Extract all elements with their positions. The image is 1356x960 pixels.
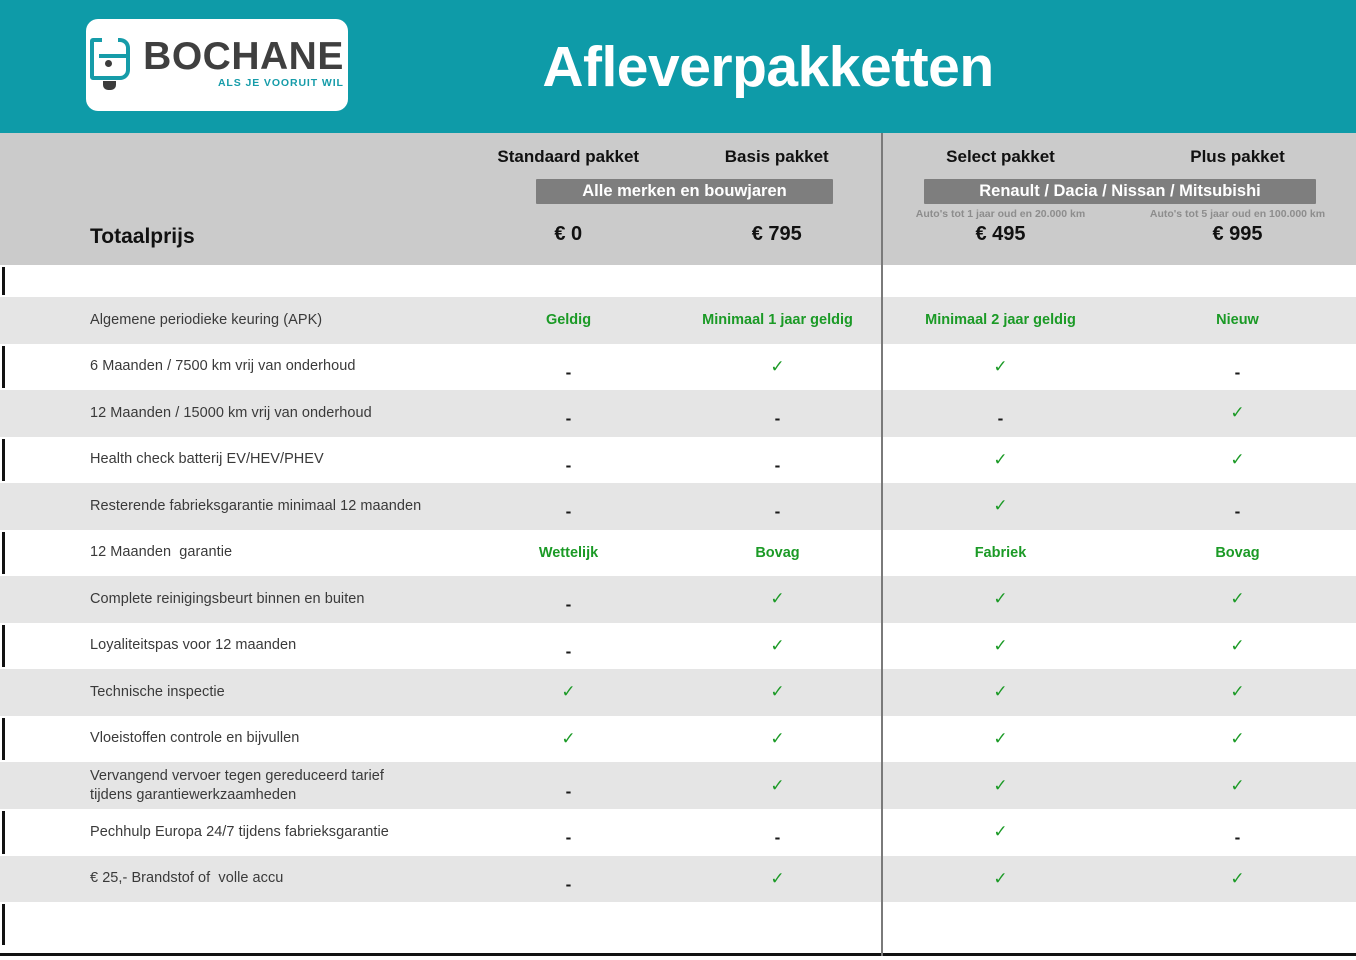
row-cells-left: -✓ <box>464 870 882 888</box>
row-cells-left: -- <box>464 497 882 515</box>
cell-basis: Bovag <box>673 544 882 562</box>
row-cells-left: ✓✓ <box>464 683 882 701</box>
cell-select: ✓ <box>882 730 1119 748</box>
row-feature-label: Vervangend vervoer tegen gereduceerd tar… <box>0 767 464 805</box>
cell-plus: ✓ <box>1119 870 1356 888</box>
afleverpakketten-page: BOCHANE ALS JE VOORUIT WIL Afleverpakket… <box>0 0 1356 960</box>
row-cells-right: FabriekBovag <box>882 544 1356 562</box>
group-badge-left: Alle merken en bouwjaren <box>536 179 833 204</box>
price-plus: € 995 <box>1119 223 1356 246</box>
row-feature-label: Complete reinigingsbeurt binnen en buite… <box>0 590 464 609</box>
cell-basis: ✓ <box>673 590 882 608</box>
row-cells-left: -- <box>464 823 882 841</box>
cell-basis: ✓ <box>673 730 882 748</box>
cell-select: Minimaal 2 jaar geldig <box>882 311 1119 329</box>
cell-basis: - <box>673 829 882 847</box>
cell-standaard: ✓ <box>464 683 673 701</box>
cell-standaard: ✓ <box>464 730 673 748</box>
row-feature-label: 12 Maanden / 15000 km vrij van onderhoud <box>0 404 464 423</box>
cell-select: ✓ <box>882 683 1119 701</box>
column-title-basis: Basis pakket <box>673 147 882 167</box>
table-row: Pechhulp Europa 24/7 tijdens fabrieksgar… <box>0 809 1356 856</box>
table-row: Complete reinigingsbeurt binnen en buite… <box>0 576 1356 623</box>
cell-standaard: - <box>464 457 673 475</box>
price-standaard: € 0 <box>464 223 673 246</box>
row-cells-right: ✓- <box>882 823 1356 841</box>
table-row: Algemene periodieke keuring (APK)GeldigM… <box>0 297 1356 344</box>
cell-select: ✓ <box>882 358 1119 376</box>
table-row: Technische inspectie✓✓✓✓ <box>0 669 1356 716</box>
row-feature-label: € 25,- Brandstof of volle accu <box>0 869 464 888</box>
table-row: Vloeistoffen controle en bijvullen✓✓✓✓ <box>0 716 1356 763</box>
group-badge-right: Renault / Dacia / Nissan / Mitsubishi <box>924 179 1316 204</box>
cell-plus: ✓ <box>1119 730 1356 748</box>
table-row: € 25,- Brandstof of volle accu-✓✓✓ <box>0 856 1356 903</box>
cell-plus: - <box>1119 503 1356 521</box>
cell-plus: Nieuw <box>1119 311 1356 329</box>
cell-basis: ✓ <box>673 777 882 795</box>
cell-basis: ✓ <box>673 637 882 655</box>
cell-select: ✓ <box>882 590 1119 608</box>
row-cells-right: Minimaal 2 jaar geldigNieuw <box>882 311 1356 329</box>
row-feature-label: Technische inspectie <box>0 683 464 702</box>
cell-plus: ✓ <box>1119 451 1356 469</box>
row-feature-label: Health check batterij EV/HEV/PHEV <box>0 450 464 469</box>
page-title: Afleverpakketten <box>0 0 1356 133</box>
cell-select: ✓ <box>882 497 1119 515</box>
cell-plus: Bovag <box>1119 544 1356 562</box>
table-spacer-row-top <box>0 265 1356 297</box>
row-feature-label: Loyaliteitspas voor 12 maanden <box>0 636 464 655</box>
row-cells-left: -✓ <box>464 590 882 608</box>
cell-basis: ✓ <box>673 358 882 376</box>
cell-select: ✓ <box>882 637 1119 655</box>
row-cells-right: ✓- <box>882 497 1356 515</box>
table-row: Loyaliteitspas voor 12 maanden-✓✓✓ <box>0 623 1356 670</box>
row-cells-right: ✓✓ <box>882 451 1356 469</box>
table-row: 6 Maanden / 7500 km vrij van onderhoud-✓… <box>0 344 1356 391</box>
price-basis: € 795 <box>673 223 882 246</box>
cell-standaard: - <box>464 876 673 894</box>
cell-basis: Minimaal 1 jaar geldig <box>673 311 882 329</box>
row-cells-right: ✓- <box>882 358 1356 376</box>
table-row: 12 Maanden / 15000 km vrij van onderhoud… <box>0 390 1356 437</box>
comparison-table-body: Algemene periodieke keuring (APK)GeldigM… <box>0 265 1356 956</box>
table-row: Resterende fabrieksgarantie minimaal 12 … <box>0 483 1356 530</box>
cell-select: Fabriek <box>882 544 1119 562</box>
cell-standaard: - <box>464 410 673 428</box>
cell-plus: ✓ <box>1119 590 1356 608</box>
table-header: Totaalprijs Standaard pakket Basis pakke… <box>0 133 1356 265</box>
row-cells-right: -✓ <box>882 404 1356 422</box>
row-cells-right: ✓✓ <box>882 777 1356 795</box>
column-title-plus: Plus pakket <box>1119 147 1356 167</box>
cell-basis: ✓ <box>673 870 882 888</box>
cell-basis: - <box>673 410 882 428</box>
row-cells-left: -✓ <box>464 637 882 655</box>
row-feature-label: 12 Maanden garantie <box>0 543 464 562</box>
row-cells-left: -✓ <box>464 777 882 795</box>
column-sub-select: Auto's tot 1 jaar oud en 20.000 km <box>882 208 1119 220</box>
cell-select: ✓ <box>882 870 1119 888</box>
cell-select: ✓ <box>882 823 1119 841</box>
table-row: Vervangend vervoer tegen gereduceerd tar… <box>0 762 1356 809</box>
cell-standaard: - <box>464 364 673 382</box>
row-feature-label: 6 Maanden / 7500 km vrij van onderhoud <box>0 357 464 376</box>
price-select: € 495 <box>882 223 1119 246</box>
row-feature-label: Pechhulp Europa 24/7 tijdens fabrieksgar… <box>0 823 464 842</box>
row-cells-left: -- <box>464 404 882 422</box>
group-divider <box>881 133 883 956</box>
row-cells-right: ✓✓ <box>882 683 1356 701</box>
cell-basis: - <box>673 457 882 475</box>
top-banner: BOCHANE ALS JE VOORUIT WIL Afleverpakket… <box>0 0 1356 133</box>
cell-standaard: - <box>464 829 673 847</box>
row-cells-left: -✓ <box>464 358 882 376</box>
row-feature-label: Vloeistoffen controle en bijvullen <box>0 729 464 748</box>
row-cells-left: ✓✓ <box>464 730 882 748</box>
row-cells-right: ✓✓ <box>882 590 1356 608</box>
cell-plus: ✓ <box>1119 777 1356 795</box>
cell-plus: - <box>1119 829 1356 847</box>
cell-standaard: - <box>464 503 673 521</box>
row-cells-right: ✓✓ <box>882 870 1356 888</box>
row-cells-right: ✓✓ <box>882 730 1356 748</box>
row-cells-left: GeldigMinimaal 1 jaar geldig <box>464 311 882 329</box>
cell-select: ✓ <box>882 451 1119 469</box>
row-cells-left: WettelijkBovag <box>464 544 882 562</box>
cell-plus: ✓ <box>1119 683 1356 701</box>
cell-plus: ✓ <box>1119 404 1356 422</box>
column-title-standaard: Standaard pakket <box>464 147 673 167</box>
cell-standaard: - <box>464 643 673 661</box>
cell-basis: - <box>673 503 882 521</box>
cell-standaard: Geldig <box>464 311 673 329</box>
package-group-right: Select pakket Plus pakket Renault / Daci… <box>882 133 1356 265</box>
row-cells-right: ✓✓ <box>882 637 1356 655</box>
table-row: Health check batterij EV/HEV/PHEV--✓✓ <box>0 437 1356 484</box>
cell-select: ✓ <box>882 777 1119 795</box>
cell-plus: - <box>1119 364 1356 382</box>
cell-standaard: - <box>464 596 673 614</box>
cell-select: - <box>882 410 1119 428</box>
cell-standaard: - <box>464 783 673 801</box>
cell-basis: ✓ <box>673 683 882 701</box>
row-feature-label: Algemene periodieke keuring (APK) <box>0 311 464 330</box>
total-price-label: Totaalprijs <box>90 225 195 249</box>
row-feature-label: Resterende fabrieksgarantie minimaal 12 … <box>0 497 464 516</box>
cell-plus: ✓ <box>1119 637 1356 655</box>
cell-standaard: Wettelijk <box>464 544 673 562</box>
table-spacer-row-bottom <box>0 902 1356 947</box>
column-sub-plus: Auto's tot 5 jaar oud en 100.000 km <box>1119 208 1356 220</box>
table-row: 12 Maanden garantieWettelijkBovagFabriek… <box>0 530 1356 577</box>
column-title-select: Select pakket <box>882 147 1119 167</box>
row-cells-left: -- <box>464 451 882 469</box>
package-group-left: Standaard pakket Basis pakket Alle merke… <box>464 133 881 265</box>
